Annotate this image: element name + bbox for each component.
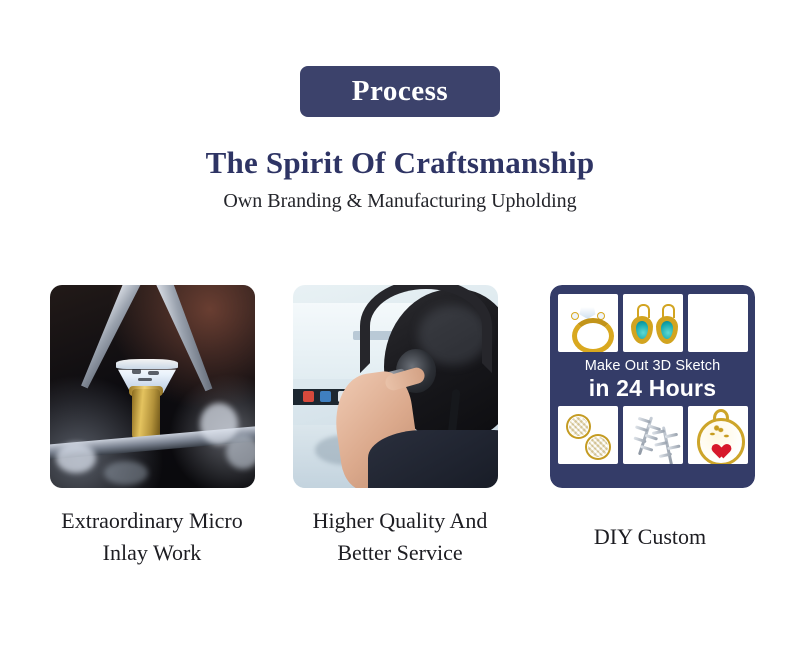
caption-line2: Inlay Work [22, 537, 282, 569]
captions-row: Extraordinary Micro Inlay Work Higher Qu… [0, 505, 800, 595]
tile-turquoise-teardrop-earrings [623, 294, 683, 352]
filigree-disc-icon [566, 414, 591, 439]
caption-diy-custom: DIY Custom [520, 521, 780, 553]
gold-setting-post [132, 389, 160, 439]
diamond-facet-shadow [148, 371, 159, 375]
ring-side-stone-icon [571, 312, 579, 320]
diamond-facet-shadow [138, 378, 152, 381]
bokeh-highlight [56, 443, 96, 473]
card-customer-service [293, 285, 498, 488]
page-subtitle: Own Branding & Manufacturing Upholding [0, 190, 800, 213]
caption-customer-service: Higher Quality And Better Service [270, 505, 530, 569]
caption-line1: Higher Quality And [270, 505, 530, 537]
diamond-tweezers-image [50, 285, 255, 488]
leaf-frond [634, 425, 647, 432]
tile-gold-filigree-discs [558, 406, 618, 464]
panel-text-line2: in 24 Hours [585, 377, 721, 400]
process-badge: Process [300, 66, 500, 117]
filigree-texture [588, 437, 608, 457]
card-diy-custom: Make Out 3D Sketch in 24 Hours [550, 285, 755, 488]
3d-sketch-panel: Make Out 3D Sketch in 24 Hours [550, 285, 755, 488]
earring-turquoise-stone-icon [661, 321, 673, 339]
caption-line2: Better Service [270, 537, 530, 569]
tile-silver-leaf-brooches [623, 406, 683, 464]
filigree-disc-icon [585, 434, 611, 460]
leaf-frond [637, 416, 650, 423]
tile-gold-ring-with-clear-gems [558, 294, 618, 352]
diamond-table-icon [116, 359, 178, 369]
panel-promise-text: Make Out 3D Sketch in 24 Hours [585, 359, 721, 400]
diamond-facet-shadow [132, 369, 141, 374]
tile-row-bottom [559, 406, 746, 464]
tile-row-top [559, 294, 746, 352]
caption-line1: Extraordinary Micro [22, 505, 282, 537]
page-title: The Spirit Of Craftsmanship [0, 145, 800, 181]
panel-text-line1: Make Out 3D Sketch [585, 359, 721, 374]
earring-turquoise-stone-icon [636, 321, 648, 339]
process-section: Process The Spirit Of Craftsmanship Own … [0, 0, 800, 660]
badge-container: Process [0, 66, 800, 117]
person-shoulder [368, 430, 498, 488]
pendant-heart-icon [709, 438, 726, 453]
tile-stacked-gold-diamond-bands [688, 294, 748, 352]
tile-gold-tree-pendant-with-red-heart [688, 406, 748, 464]
bokeh-highlight [104, 461, 148, 485]
screen-color-chip [303, 391, 314, 402]
headset-agent-image [293, 285, 498, 488]
screen-color-chip [320, 391, 331, 402]
ring-band-icon [572, 318, 614, 352]
filigree-texture [569, 417, 588, 436]
caption-line1: DIY Custom [520, 521, 780, 553]
leaf-brooch-icon [651, 423, 683, 463]
cards-row: Make Out 3D Sketch in 24 Hours [50, 285, 756, 488]
card-micro-inlay [50, 285, 255, 488]
caption-micro-inlay: Extraordinary Micro Inlay Work [22, 505, 282, 569]
bokeh-highlight [226, 435, 255, 469]
